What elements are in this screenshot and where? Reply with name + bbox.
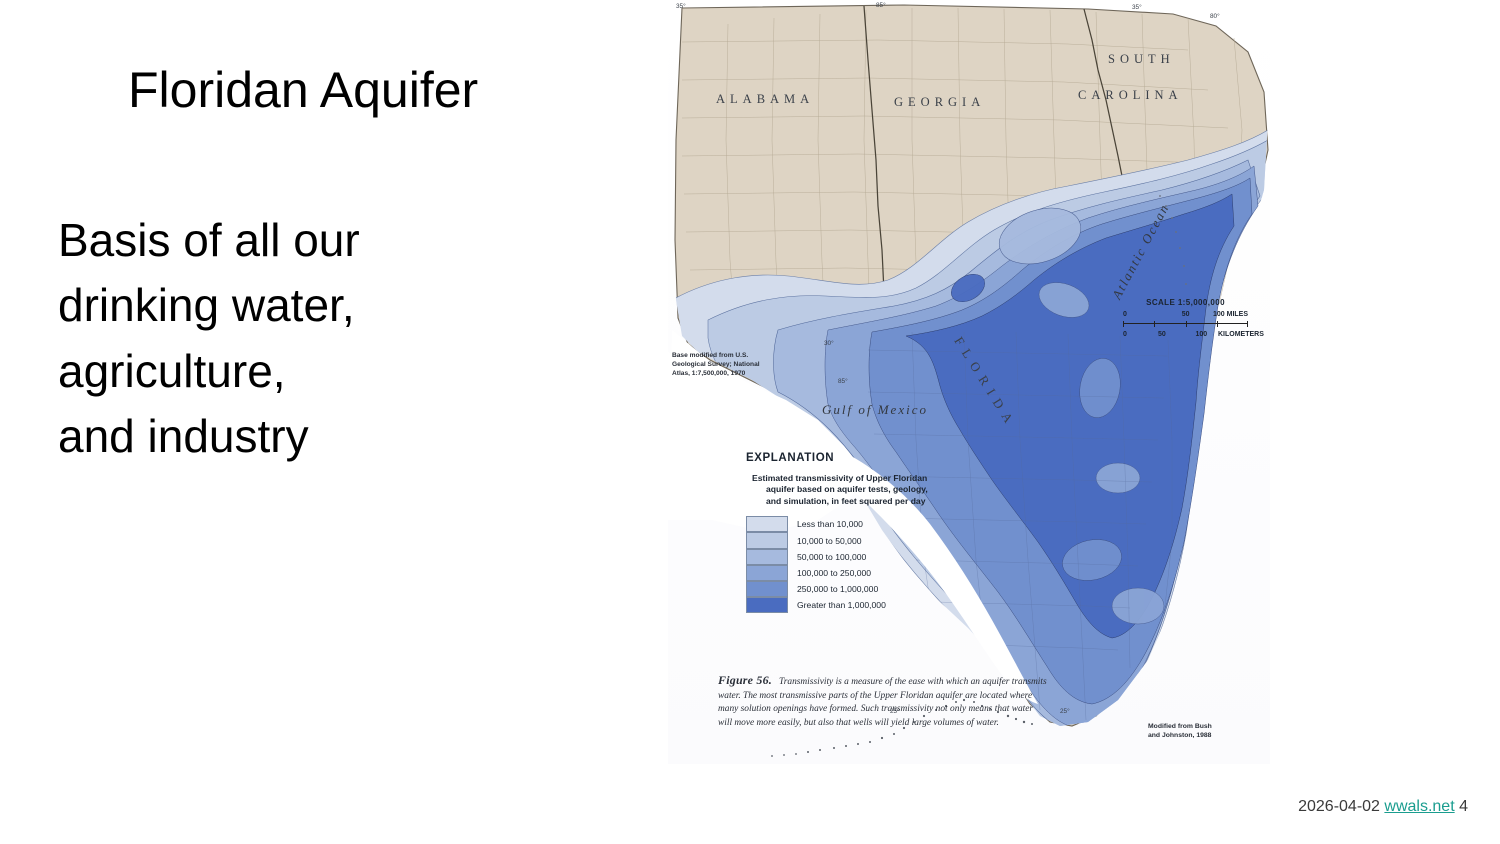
legend-item: 100,000 to 250,000 (746, 565, 1006, 581)
base-note-line: Base modified from U.S. (672, 352, 792, 361)
footer-link-wwals[interactable]: wwals.net (1384, 798, 1454, 815)
scale-km-mid2: 100 (1196, 331, 1208, 338)
legend-swatch-gt-1000000 (746, 597, 788, 613)
legend-item: Greater than 1,000,000 (746, 597, 1006, 613)
legend-label: 50,000 to 100,000 (797, 552, 866, 562)
scale-km-unit: KILOMETERS (1218, 331, 1264, 338)
scale-km-zero: 0 (1123, 331, 1127, 338)
tick-30-w: 30° (824, 340, 834, 347)
source-note-line: and Johnston, 1988 (1148, 731, 1258, 740)
legend-subtitle-line: Estimated transmissivity of Upper Florid… (752, 473, 1006, 484)
slide-body-text: Basis of all our drinking water, agricul… (58, 208, 618, 469)
footer-date: 2026-04-02 (1298, 798, 1380, 815)
legend-label: Greater than 1,000,000 (797, 600, 886, 610)
body-line: and industry (58, 404, 618, 469)
legend-label: 100,000 to 250,000 (797, 568, 871, 578)
legend-label: 250,000 to 1,000,000 (797, 584, 878, 594)
legend-swatch-50000-100000 (746, 549, 788, 565)
tick-80-ne: 80° (1210, 13, 1220, 20)
legend-label: 10,000 to 50,000 (797, 536, 862, 546)
base-note-line: Geological Survey; National (672, 361, 792, 370)
tick-35-ne: 35° (1132, 4, 1142, 11)
state-label-alabama: ALABAMA (716, 92, 814, 107)
body-line: drinking water, (58, 273, 618, 338)
legend-entries: Less than 10,000 10,000 to 50,000 50,000… (746, 516, 1006, 613)
map-legend: EXPLANATION Estimated transmissivity of … (746, 452, 1006, 613)
legend-subtitle: Estimated transmissivity of Upper Florid… (752, 473, 1006, 507)
state-label-carolina: CAROLINA (1078, 88, 1183, 103)
legend-item: Less than 10,000 (746, 516, 1006, 532)
legend-item: 50,000 to 100,000 (746, 549, 1006, 565)
scale-bar-line (1123, 323, 1248, 330)
scale-km-mid: 50 (1158, 331, 1166, 338)
aquifer-transmissivity-map (668, 0, 1270, 764)
scale-miles-mid: 50 (1182, 311, 1190, 318)
state-label-georgia: GEORGIA (894, 95, 985, 110)
base-map-attribution: Base modified from U.S. Geological Surve… (672, 352, 792, 379)
map-source-note: Modified from Bush and Johnston, 1988 (1148, 722, 1258, 740)
legend-item: 250,000 to 1,000,000 (746, 581, 1006, 597)
legend-heading: EXPLANATION (746, 452, 1006, 464)
slide-footer: 2026-04-02 wwals.net 4 (1298, 798, 1468, 816)
footer-page-number: 4 (1459, 798, 1468, 815)
figure-number: Figure 56. (718, 673, 772, 687)
tick-85-gulf: 85° (838, 378, 848, 385)
tick-85-n: 85° (876, 2, 886, 9)
source-note-line: Modified from Bush (1148, 722, 1258, 731)
legend-swatch-10000-50000 (746, 532, 788, 548)
tick-35-nw: 35° (676, 3, 686, 10)
legend-subtitle-line: and simulation, in feet squared per day (752, 496, 1006, 507)
scale-title: SCALE 1:5,000,000 (1123, 298, 1248, 307)
scale-miles-zero: 0 (1123, 311, 1127, 318)
legend-label: Less than 10,000 (797, 519, 863, 529)
legend-swatch-lt-10000 (746, 516, 788, 532)
scale-miles-end: 100 MILES (1213, 311, 1248, 318)
body-line: Basis of all our (58, 208, 618, 273)
water-label-gulf-of-mexico: Gulf of Mexico (822, 402, 928, 418)
state-label-south: SOUTH (1108, 52, 1175, 67)
scale-kilometers-labels: 0 50 100 KILOMETERS (1123, 331, 1248, 342)
tick-25-se: 25° (1060, 708, 1070, 715)
body-line: agriculture, (58, 339, 618, 404)
legend-swatch-100000-250000 (746, 565, 788, 581)
page-title: Floridan Aquifer (128, 62, 478, 120)
legend-subtitle-line: aquifer based on aquifer tests, geology, (752, 484, 1006, 495)
floridan-aquifer-map-figure: ALABAMA GEORGIA SOUTH CAROLINA FLORIDA G… (668, 0, 1270, 764)
base-note-line: Atlas, 1:7,500,000, 1970 (672, 370, 792, 379)
legend-item: 10,000 to 50,000 (746, 532, 1006, 548)
figure-caption: Figure 56. Transmissivity is a measure o… (718, 672, 1048, 731)
legend-swatch-250000-1000000 (746, 581, 788, 597)
map-scale-bar: SCALE 1:5,000,000 0 50 100 MILES 0 50 10… (1123, 298, 1248, 342)
